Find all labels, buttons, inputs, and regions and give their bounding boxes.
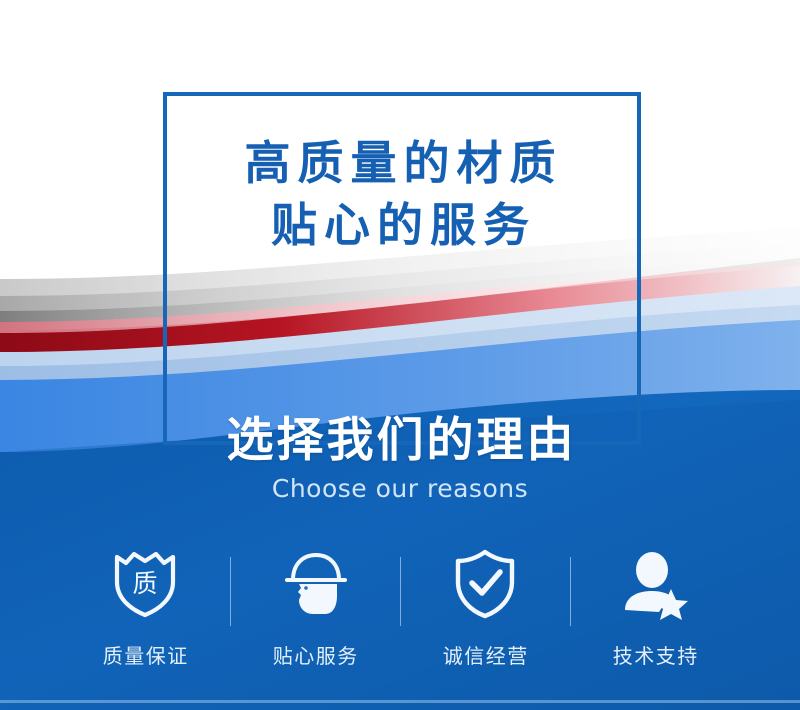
shield-quality-icon: 质 (112, 548, 178, 620)
page-title: 选择我们的理由 (0, 412, 800, 470)
headline-block: 高质量的材质 贴心的服务 (0, 132, 800, 256)
shield-check-icon (453, 548, 517, 620)
helmet-worker-icon (279, 548, 351, 620)
headline-line-1: 高质量的材质 (0, 132, 800, 194)
page-subtitle: Choose our reasons (0, 472, 800, 506)
feature-item-quality[interactable]: 质 质量保证 (60, 548, 230, 673)
promo-banner: 高质量的材质 贴心的服务 选择我们的理由 Choose our reasons … (0, 0, 800, 710)
feature-label: 贴心服务 (271, 640, 359, 669)
svg-text:质: 质 (132, 569, 157, 598)
feature-list: 质 质量保证 贴心服务 诚信 (60, 548, 740, 673)
headline-line-2: 贴心的服务 (0, 194, 800, 256)
feature-item-support[interactable]: 技术支持 (570, 548, 740, 673)
title-block: 选择我们的理由 Choose our reasons (0, 412, 800, 506)
feature-item-integrity[interactable]: 诚信经营 (400, 548, 570, 673)
bottom-divider (0, 700, 800, 703)
feature-label: 质量保证 (101, 640, 189, 669)
feature-item-service[interactable]: 贴心服务 (230, 548, 400, 673)
feature-label: 诚信经营 (441, 640, 529, 669)
feature-label: 技术支持 (611, 640, 699, 669)
person-star-icon (619, 548, 691, 620)
